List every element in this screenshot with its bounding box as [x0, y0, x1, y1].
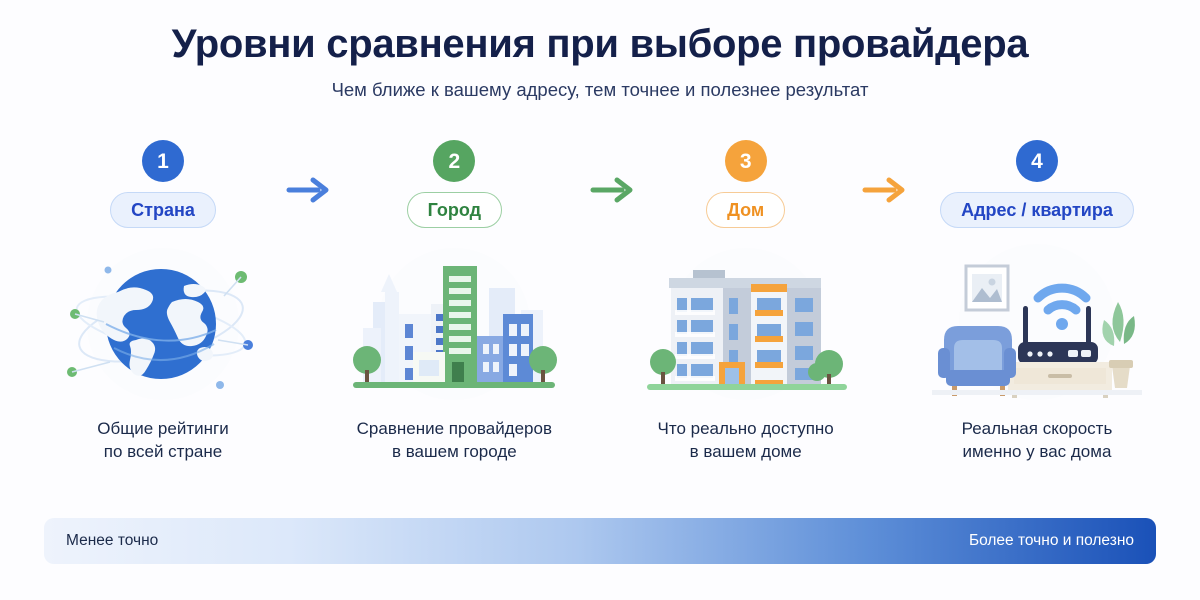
living-room-router-illustration [922, 244, 1152, 404]
step-number-badge-3: 3 [725, 140, 767, 182]
arrow-country-to-city [286, 175, 332, 205]
step-number-badge-4: 4 [1016, 140, 1058, 182]
step-number-badge-1: 1 [142, 140, 184, 182]
step-label-pill-building[interactable]: Дом [706, 192, 785, 228]
step-caption-building: Что реально доступно в вашем доме [658, 418, 834, 464]
header: Уровни сравнения при выборе провайдера Ч… [0, 0, 1200, 101]
apartment-building-illustration [631, 244, 861, 404]
globe-illustration [48, 244, 278, 404]
infographic-page: Уровни сравнения при выборе провайдера Ч… [0, 0, 1200, 600]
step-city: 2 Город [325, 140, 583, 464]
step-label-pill-address[interactable]: Адрес / квартира [940, 192, 1134, 228]
step-caption-address: Реальная скорость именно у вас дома [962, 418, 1113, 464]
precision-scale-bar: Менее точно Более точно и полезно [44, 518, 1156, 564]
step-label-pill-country[interactable]: Страна [110, 192, 216, 228]
step-label-pill-city[interactable]: Город [407, 192, 502, 228]
arrow-city-to-building [590, 175, 636, 205]
page-title: Уровни сравнения при выборе провайдера [0, 22, 1200, 67]
scale-right-label: Более точно и полезно [969, 532, 1134, 550]
step-building: 3 Дом [617, 140, 875, 464]
step-caption-city: Сравнение провайдеров в вашем городе [357, 418, 552, 464]
step-address: 4 Адрес / квартира [908, 140, 1166, 464]
step-country: 1 Страна [34, 140, 292, 464]
step-number-badge-2: 2 [433, 140, 475, 182]
arrow-building-to-address [862, 175, 908, 205]
scale-left-label: Менее точно [66, 532, 158, 550]
city-illustration [339, 244, 569, 404]
step-caption-country: Общие рейтинги по всей стране [97, 418, 228, 464]
page-subtitle: Чем ближе к вашему адресу, тем точнее и … [0, 79, 1200, 101]
